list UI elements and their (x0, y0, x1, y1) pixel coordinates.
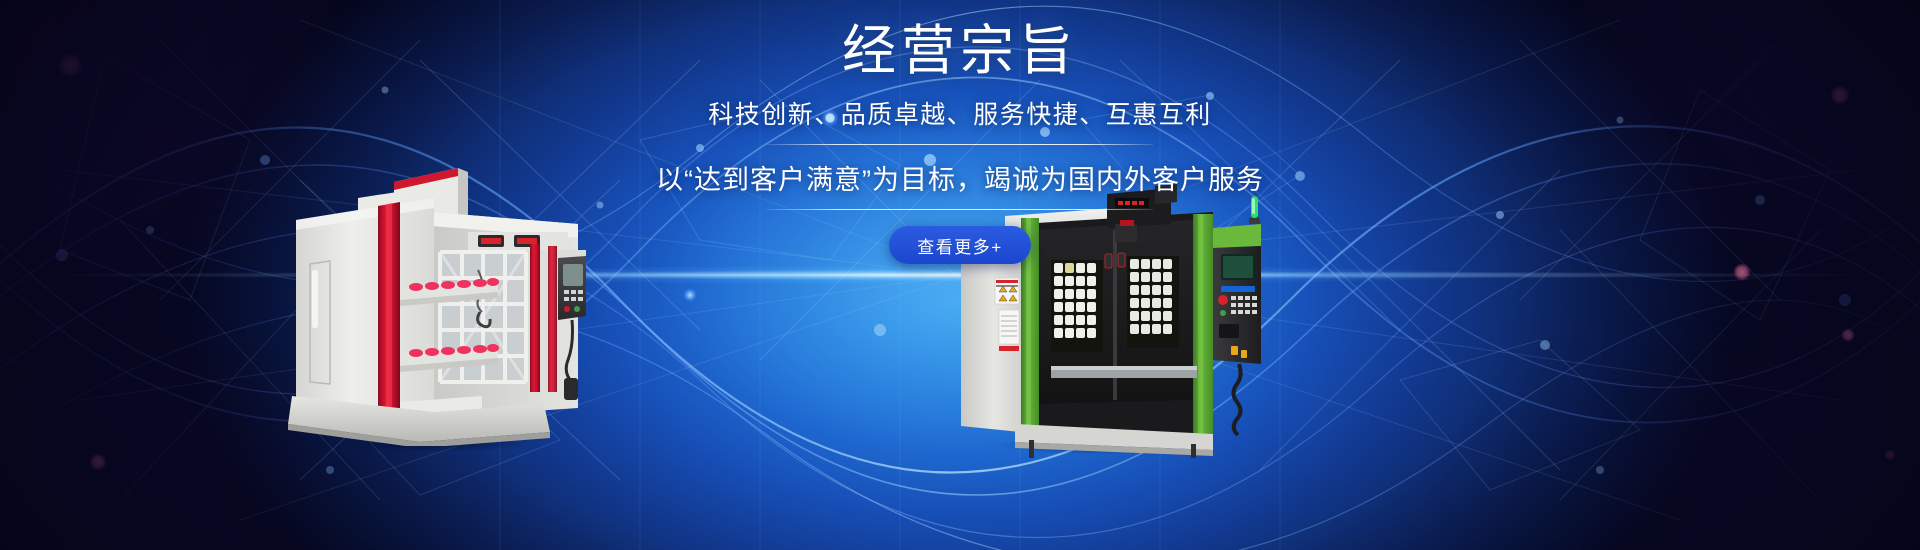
banner-tagline: 以“达到客户满意”为目标，竭诚为国内外客户服务 (656, 158, 1264, 197)
view-more-button[interactable]: 查看更多+ (889, 226, 1031, 264)
banner-text-block: 经营宗旨 科技创新、品质卓越、服务快捷、互惠互利 以“达到客户满意”为目标，竭诚… (0, 22, 1920, 264)
promotional-banner: 经营宗旨 科技创新、品质卓越、服务快捷、互惠互利 以“达到客户满意”为目标，竭诚… (0, 0, 1920, 550)
page-title: 经营宗旨 (842, 22, 1078, 80)
banner-subtitle: 科技创新、品质卓越、服务快捷、互惠互利 (708, 95, 1212, 131)
divider-top (767, 144, 1153, 145)
divider-bottom (767, 209, 1153, 210)
